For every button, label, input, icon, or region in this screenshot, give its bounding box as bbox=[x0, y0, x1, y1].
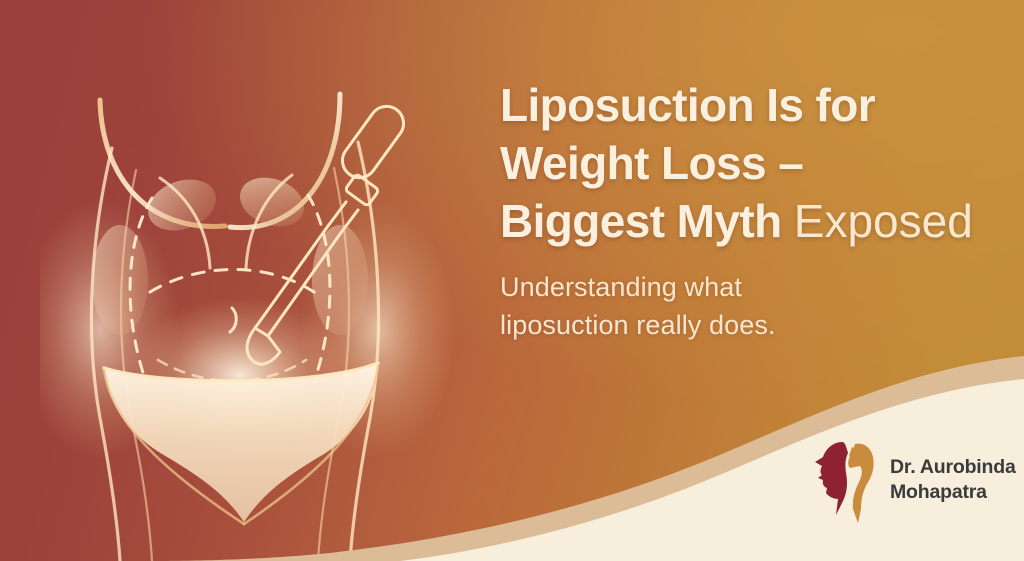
promo-banner: Liposuction Is for Weight Loss – Biggest… bbox=[0, 0, 1024, 561]
subhead-line-1: Understanding what bbox=[500, 272, 742, 302]
page-title: Liposuction Is for Weight Loss – Biggest… bbox=[500, 76, 1010, 250]
brand-name: Dr. Aurobinda Mohapatra bbox=[890, 455, 1016, 505]
headline-line-3-light: Exposed bbox=[794, 195, 973, 247]
copy-block: Liposuction Is for Weight Loss – Biggest… bbox=[500, 76, 1010, 344]
two-face-profiles-logo-icon bbox=[812, 437, 878, 523]
headline-line-2: Weight Loss – bbox=[500, 137, 803, 189]
headline-line-3-bold: Biggest Myth bbox=[500, 195, 782, 247]
brand-logo[interactable]: Dr. Aurobinda Mohapatra bbox=[812, 437, 1016, 523]
headline-line-1: Liposuction Is for bbox=[500, 79, 875, 131]
